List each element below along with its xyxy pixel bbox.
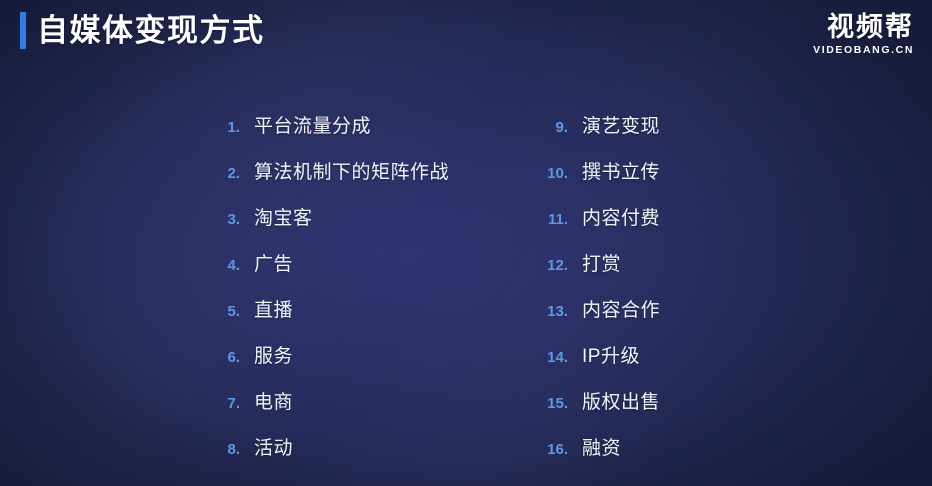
list-item[interactable]: 14.IP升级 [524, 334, 660, 380]
list-item[interactable]: 16.融资 [524, 426, 660, 472]
list-item-label: 广告 [254, 242, 293, 288]
list-item-number: 2. [196, 151, 240, 197]
list-item-label: 演艺变现 [582, 104, 660, 150]
list-item-number: 16. [524, 427, 568, 473]
list-item-number: 10. [524, 151, 568, 197]
list-item-number: 7. [196, 381, 240, 427]
list-column-left: 1.平台流量分成2.算法机制下的矩阵作战3.淘宝客4.广告5.直播6.服务7.电… [196, 104, 449, 472]
list-item-label: IP升级 [582, 334, 640, 380]
list-item[interactable]: 6.服务 [196, 334, 449, 380]
list-item-number: 8. [196, 427, 240, 473]
list-column-right: 9.演艺变现10.撰书立传11.内容付费12.打赏13.内容合作14.IP升级1… [524, 104, 660, 472]
page-title: 自媒体变现方式 [20, 12, 265, 49]
list-item-number: 13. [524, 289, 568, 335]
page-title-text: 自媒体变现方式 [37, 12, 265, 49]
list-item-label: 打赏 [582, 242, 621, 288]
list-item-number: 11. [524, 197, 568, 243]
list-item-number: 14. [524, 335, 568, 381]
list-item[interactable]: 3.淘宝客 [196, 196, 449, 242]
list-item-label: 算法机制下的矩阵作战 [254, 150, 449, 196]
list-item-label: 淘宝客 [254, 196, 313, 242]
list-item[interactable]: 1.平台流量分成 [196, 104, 449, 150]
list-item-number: 1. [196, 105, 240, 151]
list-item-number: 6. [196, 335, 240, 381]
list-item-number: 15. [524, 381, 568, 427]
list-item[interactable]: 2.算法机制下的矩阵作战 [196, 150, 449, 196]
list-item-label: 撰书立传 [582, 150, 660, 196]
list-item[interactable]: 15.版权出售 [524, 380, 660, 426]
list-item-number: 5. [196, 289, 240, 335]
list-item-number: 3. [196, 197, 240, 243]
list-item[interactable]: 12.打赏 [524, 242, 660, 288]
list-item[interactable]: 7.电商 [196, 380, 449, 426]
list-item[interactable]: 10.撰书立传 [524, 150, 660, 196]
title-accent-bar [20, 12, 26, 49]
list-item[interactable]: 8.活动 [196, 426, 449, 472]
brand-logo: 视频帮 VIDEOBANG.CN [813, 13, 914, 57]
list-item-number: 9. [524, 105, 568, 151]
list-item-label: 内容合作 [582, 288, 660, 334]
list-item-number: 4. [196, 243, 240, 289]
list-item[interactable]: 9.演艺变现 [524, 104, 660, 150]
list-item[interactable]: 4.广告 [196, 242, 449, 288]
list-item-label: 平台流量分成 [254, 104, 371, 150]
slide-canvas: 自媒体变现方式 视频帮 VIDEOBANG.CN 1.平台流量分成2.算法机制下… [0, 0, 932, 486]
list-item-label: 融资 [582, 426, 621, 472]
list-item-label: 活动 [254, 426, 293, 472]
brand-logo-name: 视频帮 [813, 13, 914, 41]
list-item-label: 版权出售 [582, 380, 660, 426]
brand-logo-domain: VIDEOBANG.CN [813, 43, 914, 57]
list-item-label: 内容付费 [582, 196, 660, 242]
list-item-label: 直播 [254, 288, 293, 334]
list-item-label: 服务 [254, 334, 293, 380]
list-item[interactable]: 5.直播 [196, 288, 449, 334]
list-item-number: 12. [524, 243, 568, 289]
list-item-label: 电商 [254, 380, 293, 426]
list-item[interactable]: 11.内容付费 [524, 196, 660, 242]
list-item[interactable]: 13.内容合作 [524, 288, 660, 334]
slide-header: 自媒体变现方式 视频帮 VIDEOBANG.CN [0, 0, 932, 74]
